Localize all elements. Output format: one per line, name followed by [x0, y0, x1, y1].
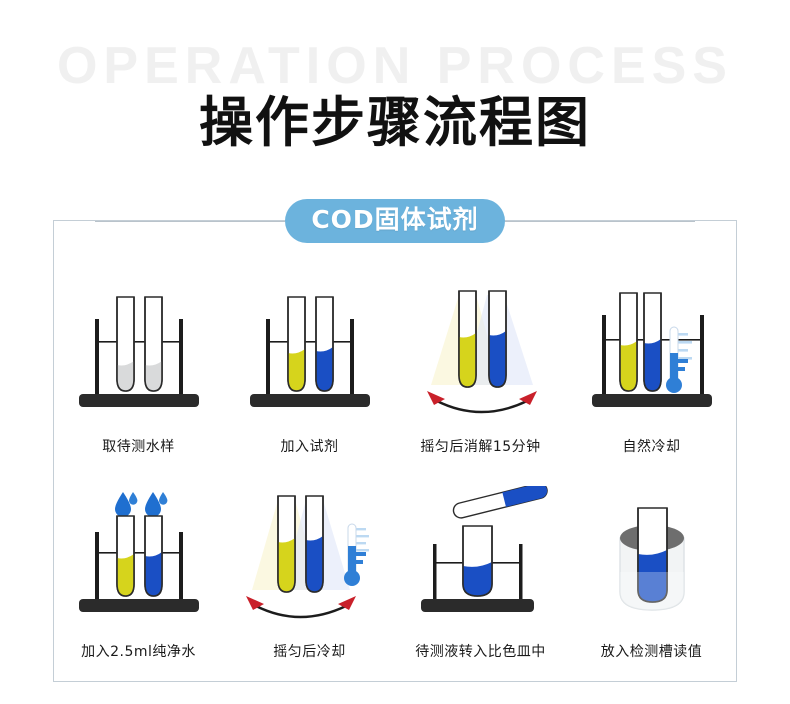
- steps-grid: 取待测水样 加入试剂: [53, 252, 737, 662]
- step-7: 待测液转入比色皿中: [395, 457, 566, 662]
- step-5: 加入2.5ml纯净水: [53, 457, 224, 662]
- page-header: OPERATION PROCESS 操作步骤流程图: [0, 0, 790, 190]
- illustration-rack-two-tubes-yellow-blue: [230, 281, 390, 431]
- step-7-label: 待测液转入比色皿中: [415, 642, 546, 662]
- step-4-label: 自然冷却: [623, 437, 681, 457]
- step-2-label: 加入试剂: [281, 437, 339, 457]
- illustration-rack-two-tubes-grey: [59, 281, 219, 431]
- illustration-rack-tubes-thermometer: [572, 281, 732, 431]
- step-3: 摇匀后消解15分钟: [395, 252, 566, 457]
- step-1: 取待测水样: [53, 252, 224, 457]
- step-6: 摇匀后冷却: [224, 457, 395, 662]
- step-1-label: 取待测水样: [102, 437, 175, 457]
- illustration-shaking-tubes-arrows: [401, 281, 561, 431]
- illustration-rack-tubes-droplets: [59, 486, 219, 636]
- illustration-shaking-tubes-thermometer-arrows: [230, 486, 390, 636]
- step-5-label: 加入2.5ml纯净水: [81, 642, 196, 662]
- illustration-cuvette-pipette-rack: [401, 486, 561, 636]
- badge-container: COD固体试剂: [53, 198, 737, 244]
- step-6-label: 摇匀后冷却: [273, 642, 346, 662]
- step-2: 加入试剂: [224, 252, 395, 457]
- step-4: 自然冷却: [566, 252, 737, 457]
- product-badge: COD固体试剂: [285, 199, 504, 243]
- badge-line-left: [95, 221, 285, 222]
- page-title: 操作步骤流程图: [0, 78, 790, 157]
- illustration-cuvette-in-slot: [572, 486, 732, 636]
- step-8: 放入检测槽读值: [566, 457, 737, 662]
- step-3-label: 摇匀后消解15分钟: [420, 437, 540, 457]
- step-8-label: 放入检测槽读值: [601, 642, 703, 662]
- badge-line-right: [505, 221, 695, 222]
